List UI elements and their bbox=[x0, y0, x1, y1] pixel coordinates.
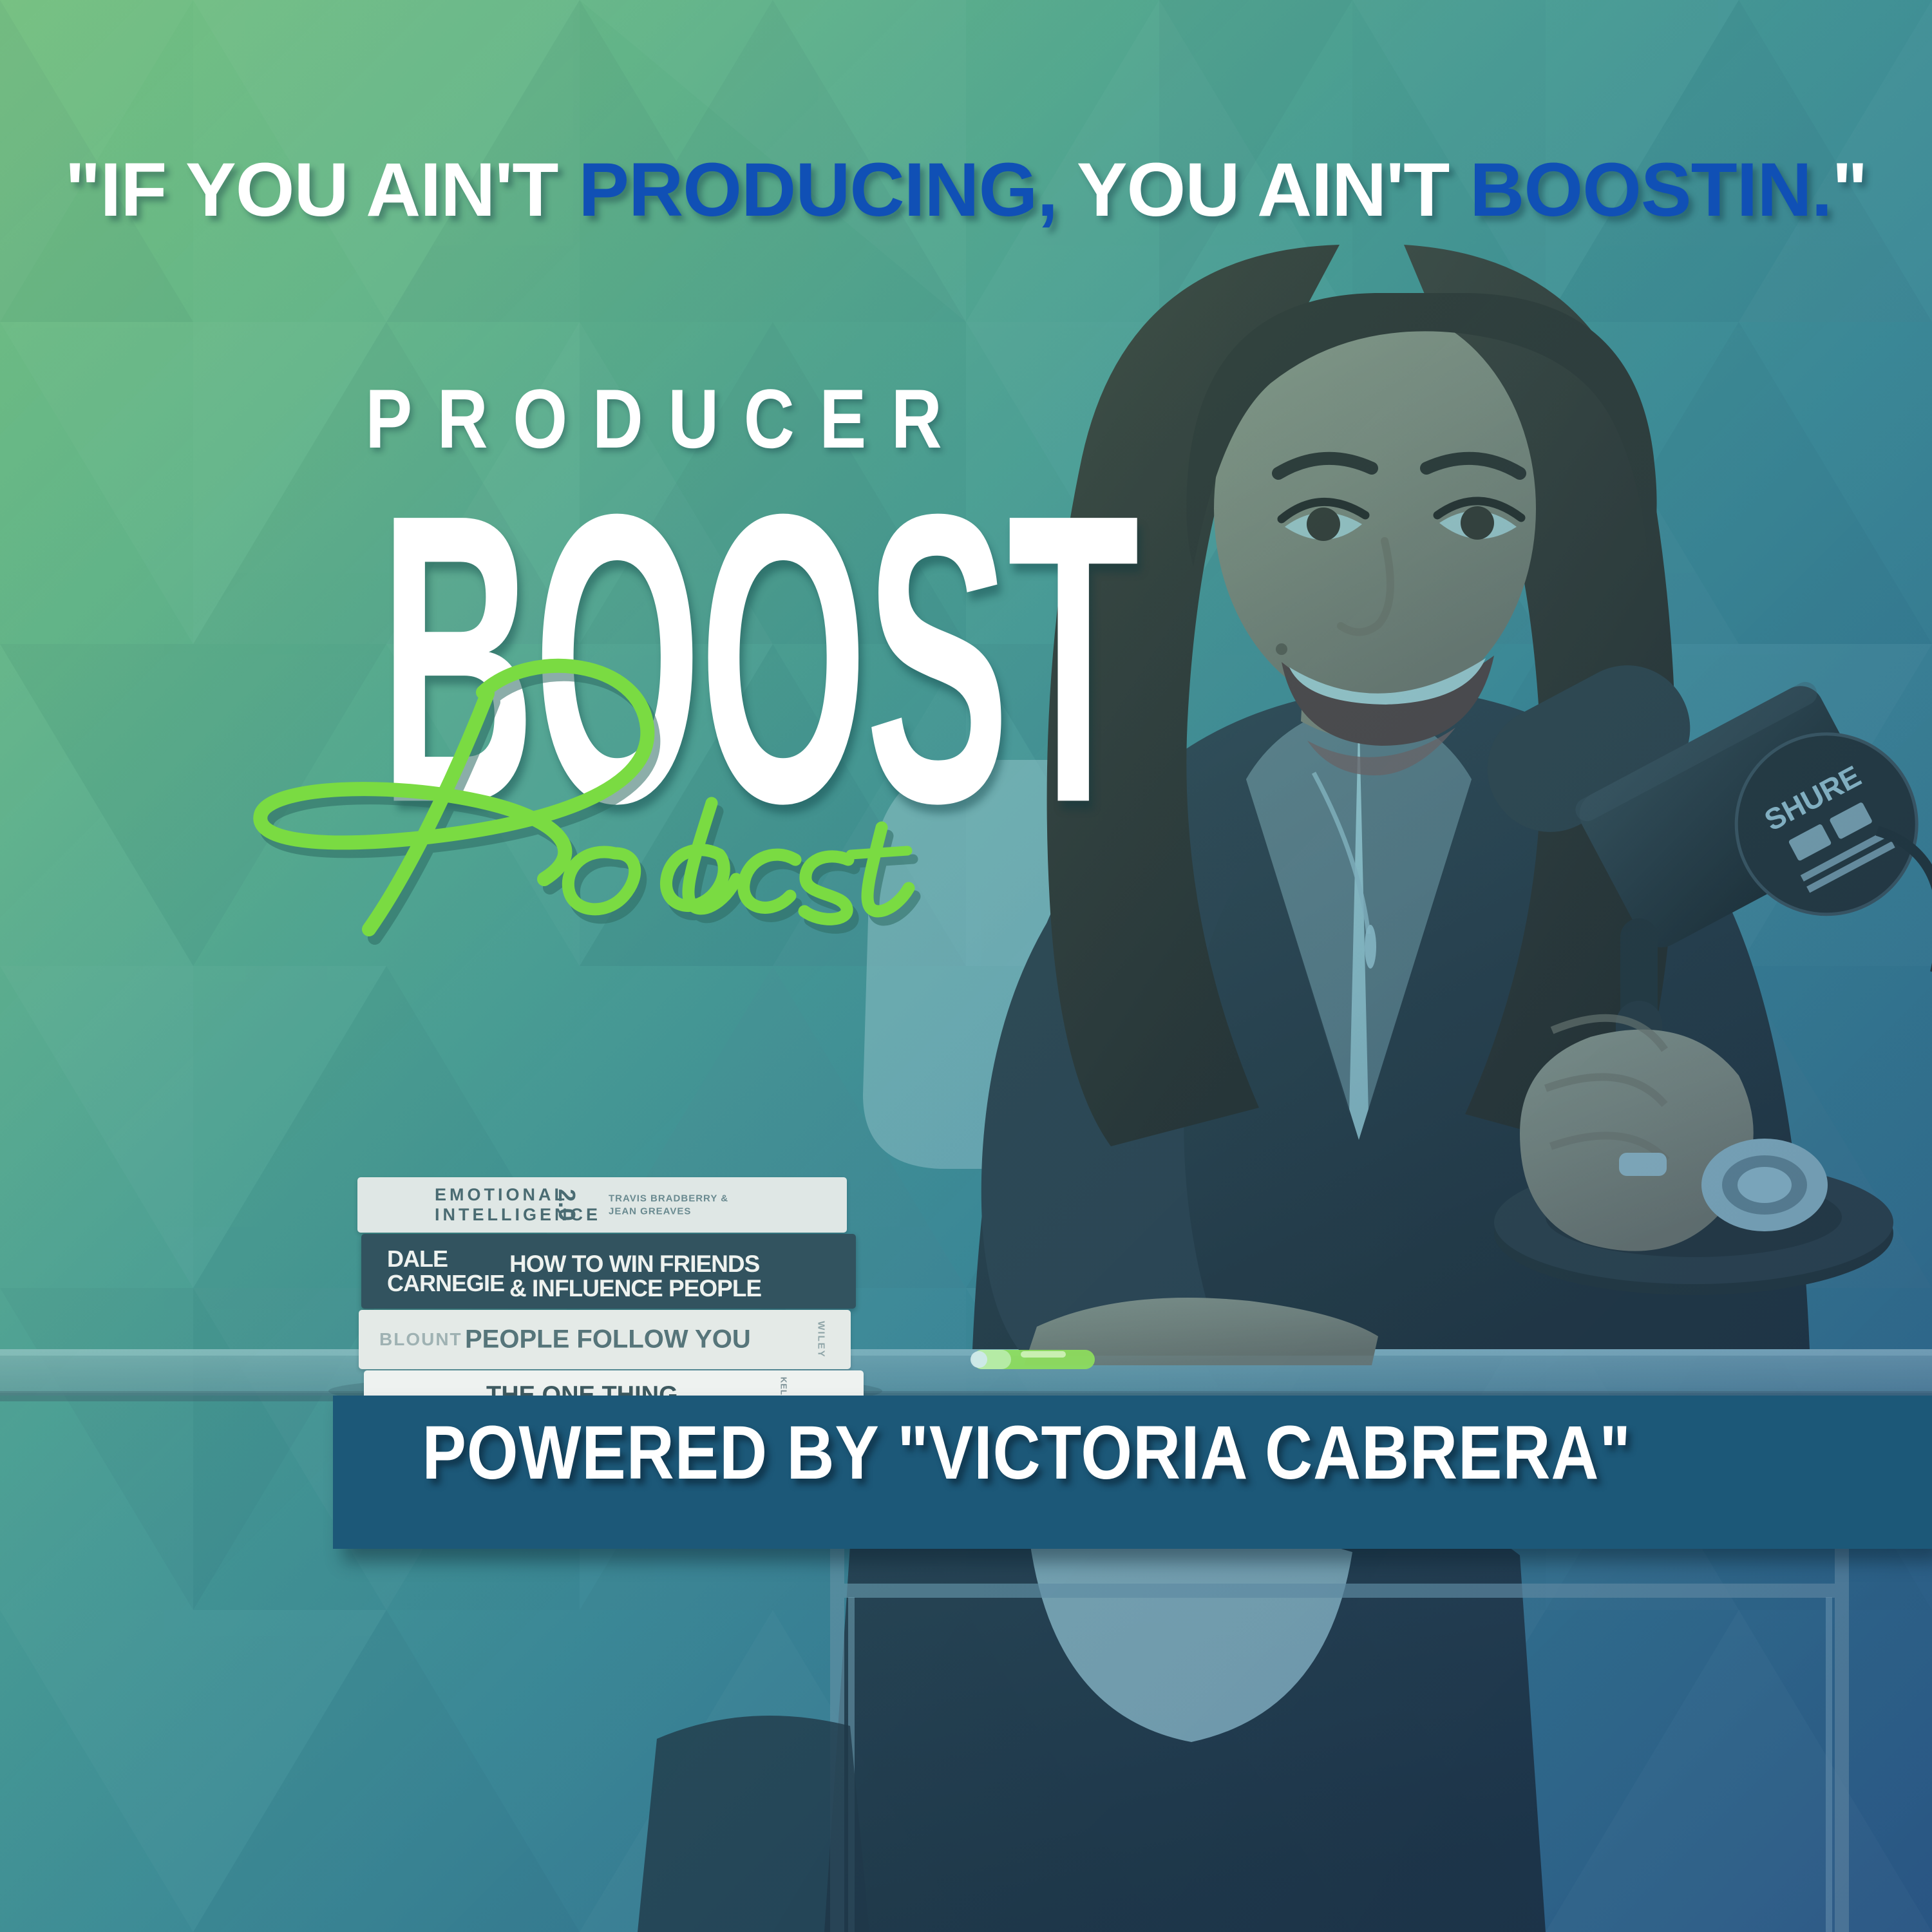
book-title: EMOTIONAL INTELLIGENCE bbox=[435, 1185, 628, 1225]
book-spine: EMOTIONAL INTELLIGENCE 2.0 TRAVIS BRADBE… bbox=[357, 1177, 847, 1233]
powered-by-text: POWERED BY "VICTORIA CABRERA" bbox=[422, 1415, 1615, 1491]
book-spine: BLOUNT PEOPLE FOLLOW YOU WILEY bbox=[359, 1310, 851, 1369]
powered-by-banner: POWERED BY "VICTORIA CABRERA" bbox=[333, 1396, 1932, 1549]
headline-segment-2: PRODUCING, bbox=[578, 147, 1057, 232]
headline-segment-1: "IF YOU AIN'T bbox=[65, 147, 579, 232]
podcast-cover-art: SHURE bbox=[0, 0, 1932, 1932]
book-title-line2: & INFLUENCE PEOPLE bbox=[509, 1275, 761, 1302]
book-stack: EMOTIONAL INTELLIGENCE 2.0 TRAVIS BRADBE… bbox=[357, 1177, 847, 1390]
book-authors: BLOUNT bbox=[379, 1329, 462, 1350]
book-authors: DALE CARNEGIE bbox=[387, 1247, 506, 1296]
photo-color-wash bbox=[0, 0, 1932, 1932]
logo-word-boost: BOOST bbox=[379, 453, 928, 864]
book-spine: DALE CARNEGIE HOW TO WIN FRIENDS & INFLU… bbox=[361, 1234, 856, 1309]
headline-segment-5: " bbox=[1832, 147, 1867, 232]
highlighter-pen bbox=[960, 1345, 1114, 1374]
book-title-line1: HOW TO WIN FRIENDS bbox=[509, 1251, 759, 1278]
book-publisher: WILEY bbox=[815, 1321, 826, 1358]
podcast-logo: PRODUCER BOOST bbox=[196, 377, 1111, 956]
book-title: PEOPLE FOLLOW YOU bbox=[465, 1325, 751, 1354]
headline-quote: "IF YOU AIN'T PRODUCING, YOU AIN'T BOOST… bbox=[0, 152, 1932, 228]
headline-segment-4: BOOSTIN. bbox=[1470, 147, 1832, 232]
book-edition: 2.0 bbox=[553, 1189, 580, 1221]
book-authors: TRAVIS BRADBERRY & JEAN GREAVES bbox=[609, 1193, 731, 1218]
headline-segment-3: YOU AIN'T bbox=[1057, 147, 1470, 232]
